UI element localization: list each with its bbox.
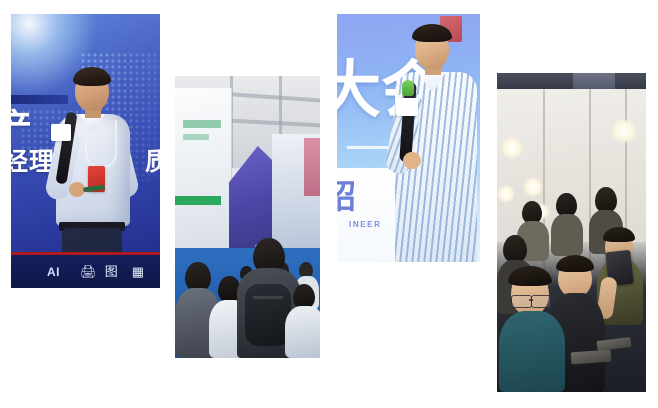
- speaker-lanyard: [85, 120, 117, 168]
- toolbar-right-group: 图 ▦: [105, 265, 144, 278]
- visitor-figure: [285, 284, 320, 358]
- audience-hair: [508, 266, 552, 286]
- backdrop-headline: 产: [11, 110, 36, 145]
- backpack-strap: [253, 296, 283, 299]
- booth-sign-text: [183, 120, 221, 128]
- microphone-head: [402, 80, 414, 96]
- presenter-hair: [412, 24, 452, 42]
- grid-icon: ▦: [132, 265, 144, 278]
- spot-light: [501, 137, 523, 159]
- audience-member: [551, 193, 581, 255]
- speaker-hair: [73, 67, 111, 86]
- booth-accent-strip: [304, 138, 320, 196]
- audience-photo[interactable]: [497, 73, 646, 392]
- booth-green-band: [175, 196, 221, 205]
- photo-gallery: 产 经理素 质 AI 🖨 图: [0, 0, 658, 408]
- booth-sign-subtext: [183, 134, 209, 140]
- audience-hair: [603, 227, 635, 242]
- microphone-flag: [396, 98, 418, 116]
- exhibition-hall-crowd-photo[interactable]: [175, 76, 320, 358]
- calendar-icon: 图: [105, 265, 118, 278]
- podium-english-text: INEER: [349, 220, 381, 229]
- presenter-figure: [393, 24, 479, 262]
- presenter-with-microphone-photo[interactable]: 大会 绍 INEER: [337, 14, 480, 262]
- presenter-hand: [403, 152, 421, 169]
- chair-back: [571, 350, 612, 365]
- microphone-flag: [51, 124, 71, 141]
- audience-crowd: [497, 183, 646, 392]
- audience-member-foreground: [499, 269, 563, 392]
- visitor-crowd: [175, 218, 320, 358]
- eyeglasses-icon: [511, 295, 532, 308]
- screen-toolbar: AI 🖨 图 ▦: [11, 255, 160, 288]
- speaker-on-stage-photo[interactable]: 产 经理素 质 AI 🖨 图: [11, 14, 160, 288]
- spot-light: [611, 119, 637, 143]
- podium-logo-character: 绍: [337, 180, 356, 213]
- eyeglasses-bridge: [529, 299, 533, 301]
- wall-top-panel: [573, 73, 615, 89]
- ai-label: AI: [47, 265, 60, 279]
- printer-icon: 🖨: [80, 265, 97, 278]
- wall-top-band: [497, 73, 646, 89]
- eyeglasses-icon: [531, 295, 551, 308]
- backdrop-subtitle-right: 质: [145, 150, 160, 175]
- audience-member-with-phone: [597, 229, 641, 325]
